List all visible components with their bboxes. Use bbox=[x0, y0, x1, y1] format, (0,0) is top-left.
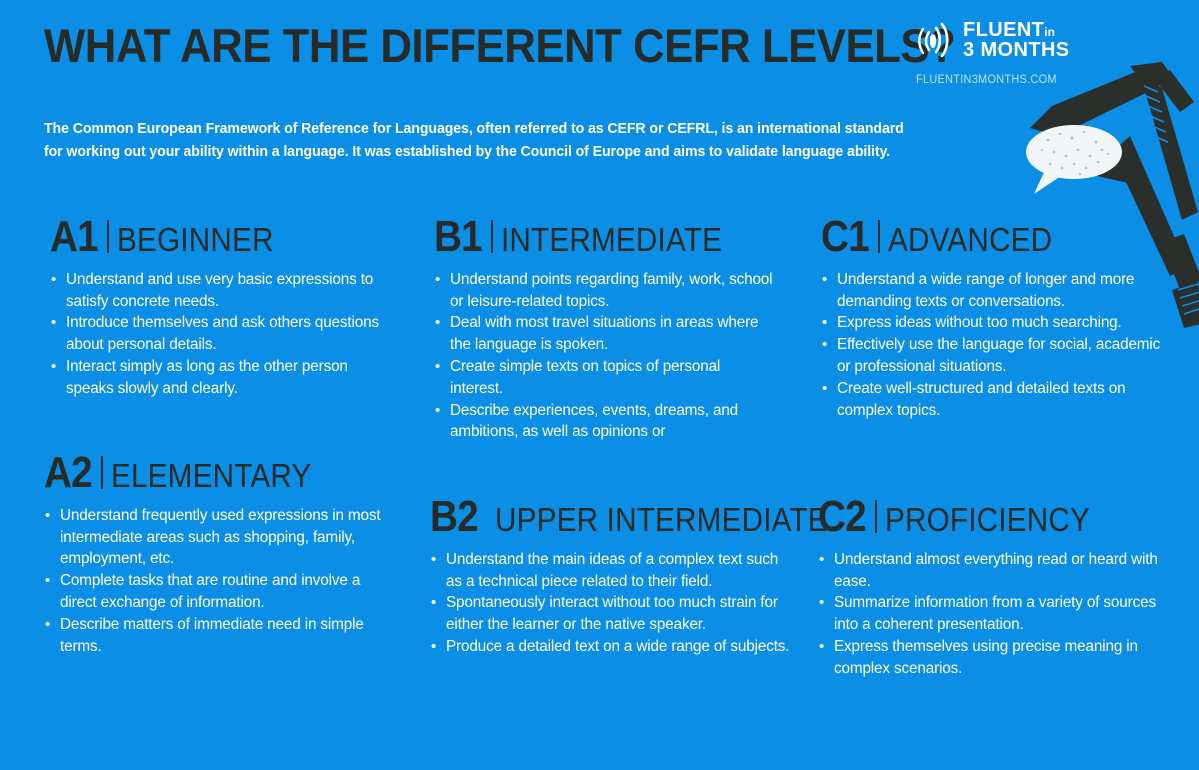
level-bullet-list-a1: Understand and use very basic expression… bbox=[50, 269, 380, 400]
level-bullet-list-c1: Understand a wide range of longer and mo… bbox=[821, 269, 1161, 422]
infographic-poster: WHAT ARE THE DIFFERENT CEFR LEVELS? The … bbox=[0, 0, 1199, 770]
heading-separator bbox=[491, 220, 493, 253]
level-code-c1: C1 bbox=[821, 216, 869, 258]
list-item: Spontaneously interact without too much … bbox=[430, 592, 790, 636]
logo-wordmark: FLUENTin 3 MONTHS bbox=[963, 20, 1070, 61]
list-item: Effectively use the language for social,… bbox=[821, 334, 1161, 378]
logo-line-two: 3 MONTHS bbox=[963, 40, 1070, 60]
list-item: Describe matters of immediate need in si… bbox=[44, 614, 389, 658]
level-block-a1: A1 BEGINNER Understand and use very basi… bbox=[50, 216, 380, 400]
intro-paragraph: The Common European Framework of Referen… bbox=[44, 118, 917, 163]
level-heading-c2: C2 PROFICIENCY bbox=[818, 496, 1158, 538]
level-heading-c1: C1 ADVANCED bbox=[821, 216, 1161, 258]
level-block-c1: C1 ADVANCED Understand a wide range of l… bbox=[821, 216, 1161, 421]
heading-separator bbox=[878, 220, 880, 253]
level-name-b1: INTERMEDIATE bbox=[501, 223, 722, 256]
level-heading-b1: B1 INTERMEDIATE bbox=[434, 216, 774, 258]
list-item: Express themselves using precise meaning… bbox=[818, 636, 1158, 680]
level-bullet-list-b2: Understand the main ideas of a complex t… bbox=[430, 549, 790, 658]
list-item: Complete tasks that are routine and invo… bbox=[44, 570, 389, 614]
level-name-c1: ADVANCED bbox=[888, 223, 1052, 256]
list-item: Introduce themselves and ask others ques… bbox=[50, 312, 380, 356]
logo-line-one: FLUENTin bbox=[963, 20, 1070, 40]
level-code-a1: A1 bbox=[50, 216, 98, 258]
list-item: Create simple texts on topics of persona… bbox=[434, 356, 774, 400]
logo-website-url[interactable]: FLUENTIN3MONTHS.COM bbox=[916, 74, 1044, 86]
level-bullet-list-a2: Understand frequently used expressions i… bbox=[44, 505, 389, 658]
list-item: Deal with most travel situations in area… bbox=[434, 312, 774, 356]
level-block-b1: B1 INTERMEDIATE Understand points regard… bbox=[434, 216, 774, 443]
list-item: Understand a wide range of longer and mo… bbox=[821, 269, 1161, 313]
level-heading-b2: B2 UPPER INTERMEDIATE bbox=[430, 496, 790, 538]
list-item: Produce a detailed text on a wide range … bbox=[430, 636, 790, 658]
list-item: Express ideas without too much searching… bbox=[821, 312, 1161, 334]
heading-separator bbox=[101, 456, 103, 489]
speech-bubble-icon bbox=[1026, 125, 1122, 194]
level-code-c2: C2 bbox=[818, 496, 866, 538]
list-item: Understand the main ideas of a complex t… bbox=[430, 549, 790, 593]
level-name-a1: BEGINNER bbox=[117, 223, 274, 256]
heading-separator bbox=[107, 220, 109, 253]
heading-separator bbox=[875, 500, 877, 533]
level-heading-a1: A1 BEGINNER bbox=[50, 216, 380, 258]
list-item: Understand and use very basic expression… bbox=[50, 269, 380, 313]
level-bullet-list-c2: Understand almost everything read or hea… bbox=[818, 549, 1158, 680]
level-name-c2: PROFICIENCY bbox=[885, 503, 1090, 536]
list-item: Understand frequently used expressions i… bbox=[44, 505, 389, 570]
sound-wave-icon bbox=[916, 22, 956, 63]
level-block-b2: B2 UPPER INTERMEDIATE Understand the mai… bbox=[430, 496, 790, 658]
list-item: Interact simply as long as the other per… bbox=[50, 356, 380, 400]
page-title: WHAT ARE THE DIFFERENT CEFR LEVELS? bbox=[44, 22, 955, 69]
list-item: Understand points regarding family, work… bbox=[434, 269, 774, 313]
level-name-a2: ELEMENTARY bbox=[111, 459, 311, 492]
level-code-b1: B1 bbox=[434, 216, 482, 258]
list-item: Create well-structured and detailed text… bbox=[821, 378, 1161, 422]
level-bullet-list-b1: Understand points regarding family, work… bbox=[434, 269, 774, 443]
level-block-a2: A2 ELEMENTARY Understand frequently used… bbox=[44, 452, 389, 657]
list-item: Summarize information from a variety of … bbox=[818, 592, 1158, 636]
level-code-a2: A2 bbox=[44, 452, 92, 494]
level-code-b2: B2 bbox=[430, 496, 478, 538]
level-block-c2: C2 PROFICIENCY Understand almost everyth… bbox=[818, 496, 1158, 680]
level-heading-a2: A2 ELEMENTARY bbox=[44, 452, 389, 494]
list-item: Describe experiences, events, dreams, an… bbox=[434, 400, 774, 444]
brand-logo[interactable]: FLUENTin 3 MONTHS bbox=[916, 20, 1070, 63]
level-name-b2: UPPER INTERMEDIATE bbox=[495, 503, 828, 536]
list-item: Understand almost everything read or hea… bbox=[818, 549, 1158, 593]
